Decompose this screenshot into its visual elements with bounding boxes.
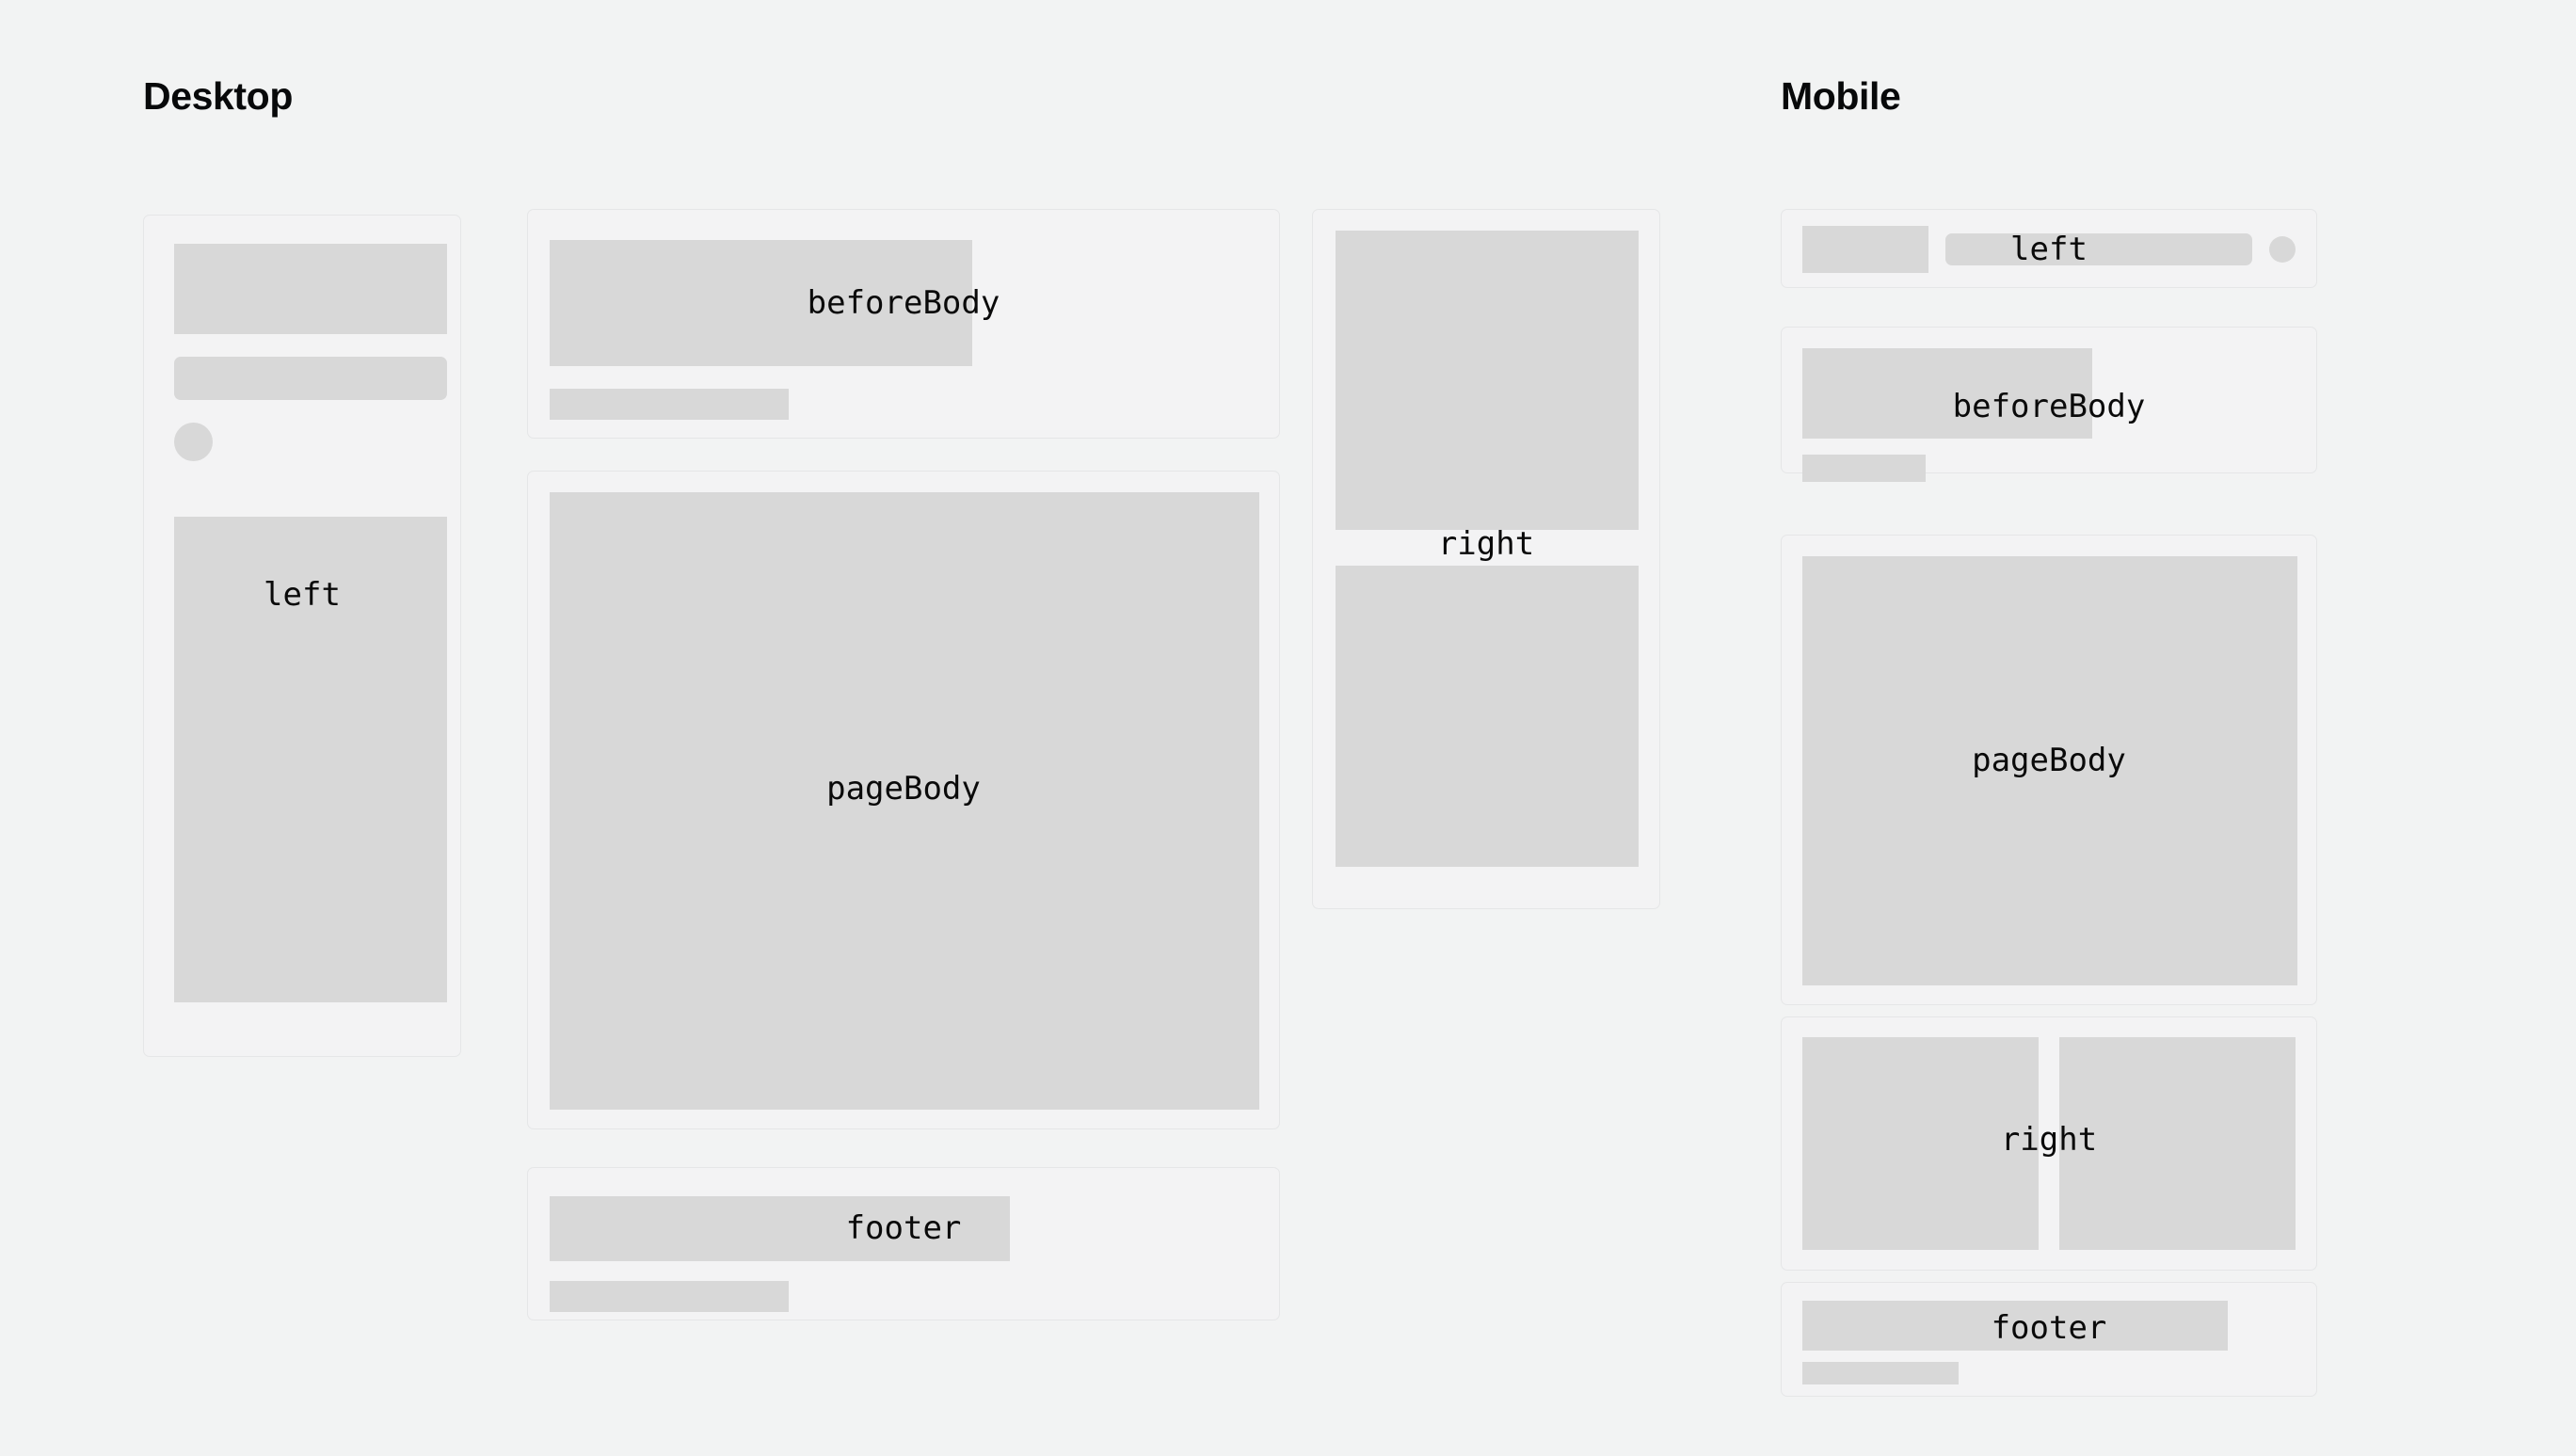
placeholder-block (1336, 231, 1639, 530)
page-title-mobile: Mobile (1781, 77, 1900, 116)
placeholder-block (1802, 556, 2297, 985)
placeholder-block (1802, 348, 2092, 439)
placeholder-row (1802, 1037, 2296, 1250)
placeholder-block (1802, 1301, 2228, 1351)
placeholder-bar (174, 357, 447, 400)
slot-label-right: right (1313, 528, 1659, 560)
placeholder-avatar-circle (2269, 236, 2296, 263)
placeholder-block (550, 240, 972, 366)
placeholder-block (1802, 226, 1928, 273)
placeholder-block (2059, 1037, 2296, 1250)
placeholder-bar (1945, 233, 2252, 265)
placeholder-block (174, 517, 447, 1002)
desktop-slot-right-panel[interactable]: right (1312, 209, 1660, 909)
placeholder-block (550, 1196, 1010, 1261)
layout-wireframe-page: { "page": { "background_color": "#f2f3f3… (0, 0, 2576, 1456)
placeholder-bar (550, 389, 789, 420)
placeholder-block (1802, 1037, 2039, 1250)
placeholder-avatar-circle (174, 423, 213, 461)
mobile-slot-right-panel[interactable]: right (1781, 1016, 2317, 1271)
placeholder-bar (1802, 455, 1926, 482)
mobile-slot-footer-panel[interactable]: footer (1781, 1282, 2317, 1397)
placeholder-bar (550, 1281, 789, 1312)
desktop-slot-footer-panel[interactable]: footer (527, 1167, 1280, 1320)
mobile-slot-beforebody-panel[interactable]: beforeBody (1781, 327, 2317, 473)
mobile-slot-pagebody-panel[interactable]: pageBody (1781, 535, 2317, 1005)
desktop-slot-pagebody-panel[interactable]: pageBody (527, 471, 1280, 1129)
desktop-slot-left-panel[interactable]: left (143, 215, 461, 1057)
placeholder-block (550, 492, 1259, 1110)
placeholder-bar (1802, 1362, 1959, 1384)
page-title-desktop: Desktop (143, 77, 293, 116)
placeholder-block (1336, 566, 1639, 867)
desktop-slot-beforebody-panel[interactable]: beforeBody (527, 209, 1280, 439)
placeholder-block (174, 244, 447, 334)
mobile-slot-left-panel[interactable]: left (1781, 209, 2317, 288)
placeholder-row (1802, 226, 2296, 273)
